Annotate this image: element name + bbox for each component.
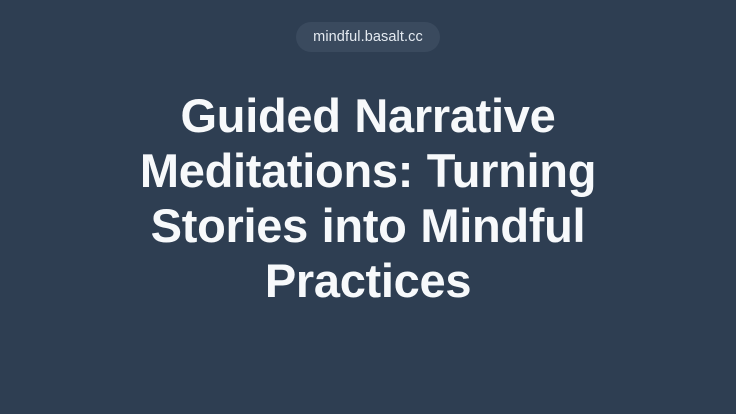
page-title: Guided Narrative Meditations: Turning St… [88,88,648,308]
site-domain-badge: mindful.basalt.cc [296,22,440,52]
hero-card: mindful.basalt.cc Guided Narrative Medit… [0,0,736,414]
title-block: Guided Narrative Meditations: Turning St… [88,88,648,308]
